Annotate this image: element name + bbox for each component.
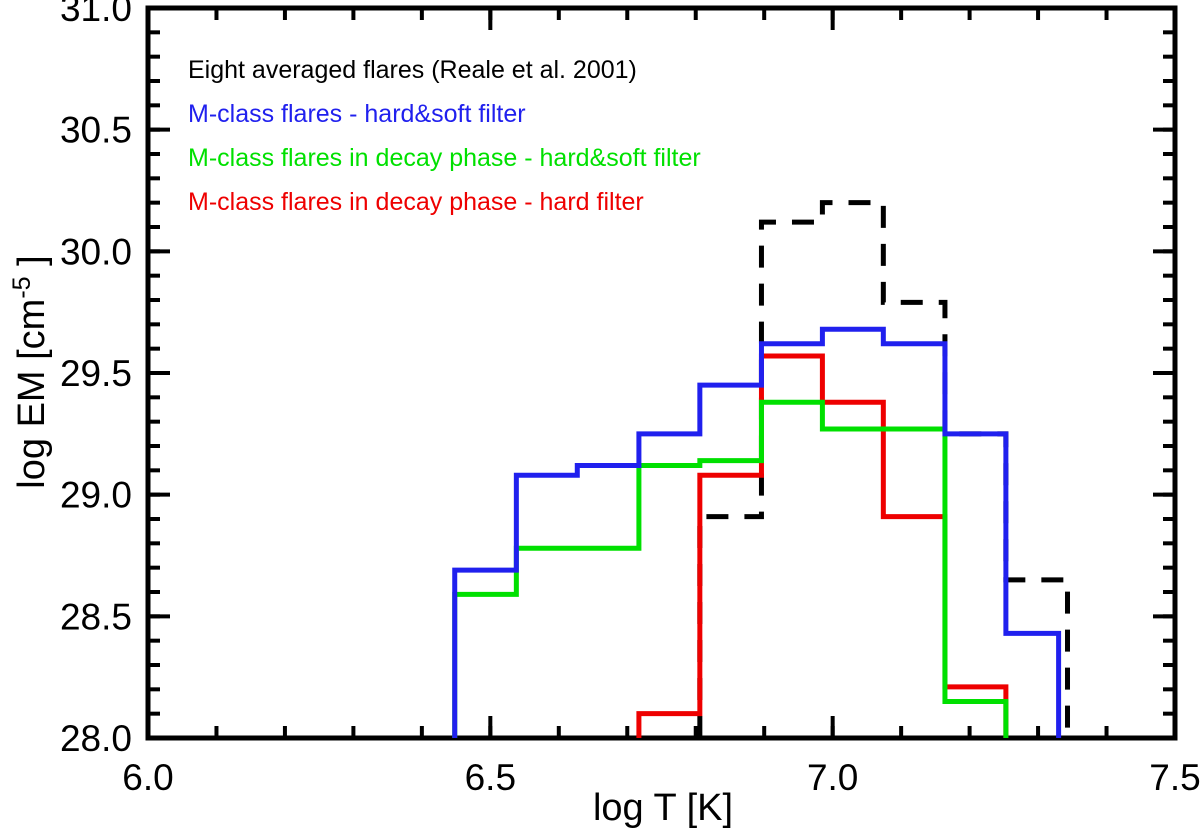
- legend-item: Eight averaged flares (Reale et al. 2001…: [188, 48, 948, 92]
- legend-item: M-class flares in decay phase - hard&sof…: [188, 136, 948, 180]
- y-tick-label: 29.0: [60, 475, 132, 516]
- y-axis-title-exponent: -5: [8, 276, 36, 298]
- legend-item: M-class flares in decay phase - hard fil…: [188, 180, 948, 224]
- y-tick-label: 29.5: [60, 353, 132, 394]
- data-series-line: [455, 402, 1006, 738]
- x-tick-label: 6.5: [465, 757, 516, 798]
- legend: Eight averaged flares (Reale et al. 2001…: [188, 48, 948, 224]
- y-tick-label: 30.5: [60, 110, 132, 151]
- x-axis-title: log T [K]: [593, 787, 733, 829]
- y-tick-label: 30.0: [60, 231, 132, 272]
- legend-item-label: M-class flares in decay phase - hard&sof…: [188, 144, 701, 172]
- legend-item-label: M-class flares - hard&soft filter: [188, 100, 526, 128]
- x-tick-label: 7.5: [1149, 757, 1200, 798]
- y-tick-label: 31.0: [60, 0, 132, 29]
- y-axis-tick-labels: 28.028.529.029.530.030.531.0: [60, 0, 132, 759]
- x-tick-label: 7.0: [807, 757, 858, 798]
- data-series-line: [455, 329, 1059, 738]
- x-tick-label: 6.0: [122, 757, 173, 798]
- y-tick-label: 28.0: [60, 718, 132, 759]
- legend-item: M-class flares - hard&soft filter: [188, 92, 948, 136]
- y-axis-title-base: log EM [cm: [11, 299, 53, 489]
- y-tick-label: 28.5: [60, 596, 132, 637]
- figure-container: 28.028.529.029.530.030.531.0 6.06.57.07.…: [0, 0, 1200, 836]
- y-axis-title: log EM [cm-5 ]: [8, 255, 53, 488]
- legend-item-label: Eight averaged flares (Reale et al. 2001…: [188, 56, 637, 84]
- data-series-group: [455, 203, 1068, 738]
- legend-item-label: M-class flares in decay phase - hard fil…: [188, 188, 644, 216]
- svg-text:log EM [cm-5 ]: log EM [cm-5 ]: [8, 255, 53, 488]
- y-axis-title-tail: ]: [11, 255, 53, 276]
